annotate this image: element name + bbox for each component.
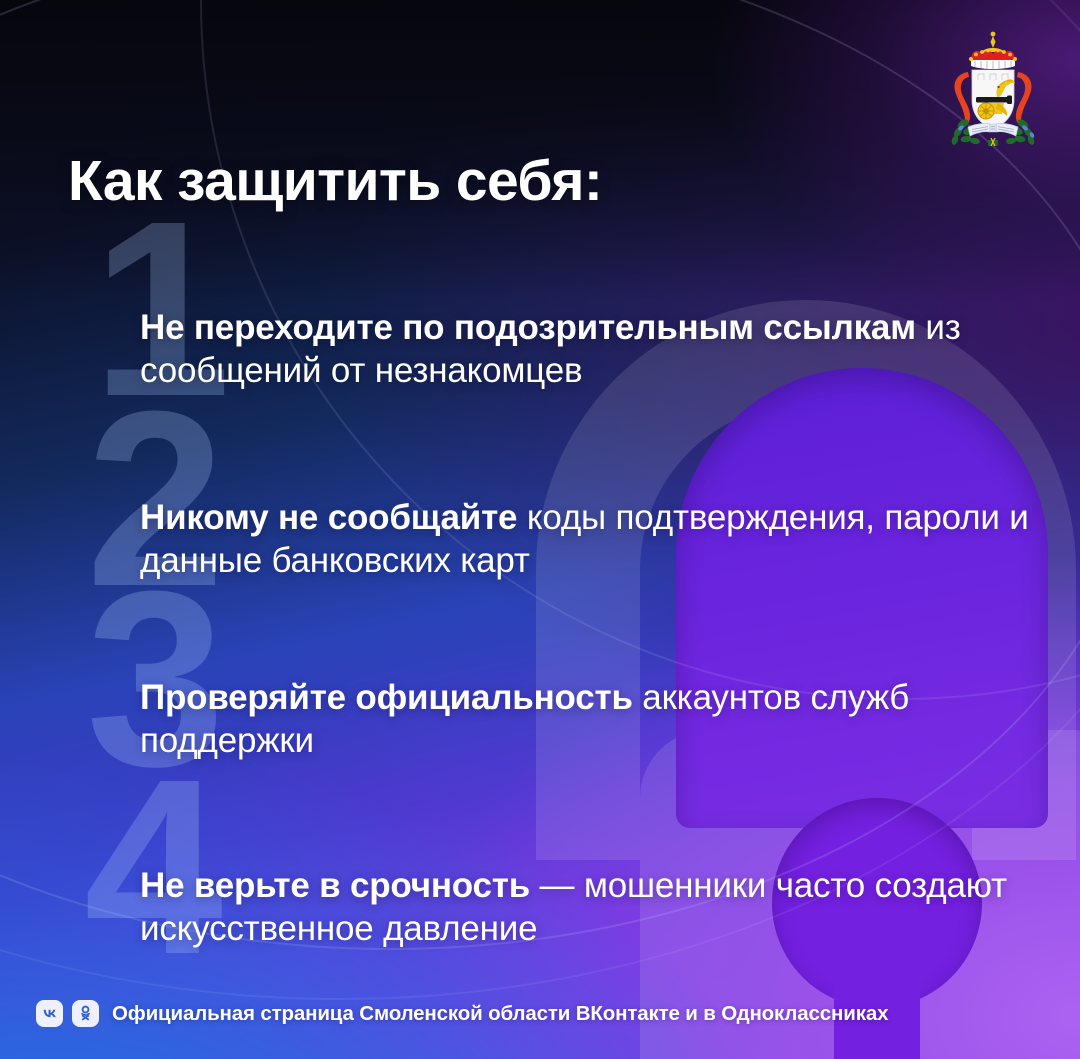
tip-text-4: Не верьте в срочность — мошенники часто … xyxy=(140,864,1045,951)
poster-canvas: Как защитить себя: 1 Не переходите по по… xyxy=(0,0,1080,1059)
coat-of-arms-icon xyxy=(938,28,1048,148)
vk-icon[interactable] xyxy=(36,1000,63,1027)
footer-text: Официальная страница Смоленской области … xyxy=(112,1002,888,1026)
tip-bold-3: Проверяйте официальность xyxy=(140,678,633,717)
tip-bold-4: Не верьте в срочность xyxy=(140,866,530,905)
tip-bold-2: Никому не сообщайте xyxy=(140,498,517,537)
odnoklassniki-icon[interactable] xyxy=(72,1000,99,1027)
tip-bold-1: Не переходите по подозрительным ссылкам xyxy=(140,308,916,347)
tip-item-4: 4 Не верьте в срочность — мошенники част… xyxy=(0,778,1080,960)
tip-text-1: Не переходите по подозрительным ссылкам … xyxy=(140,306,1045,393)
tip-text-2: Никому не сообщайте коды подтверждения, … xyxy=(140,496,1045,583)
footer: Официальная страница Смоленской области … xyxy=(36,1000,888,1027)
tip-text-3: Проверяйте официальность аккаунтов служб… xyxy=(140,676,1045,763)
tips-list: 1 Не переходите по подозрительным ссылка… xyxy=(0,232,1080,960)
